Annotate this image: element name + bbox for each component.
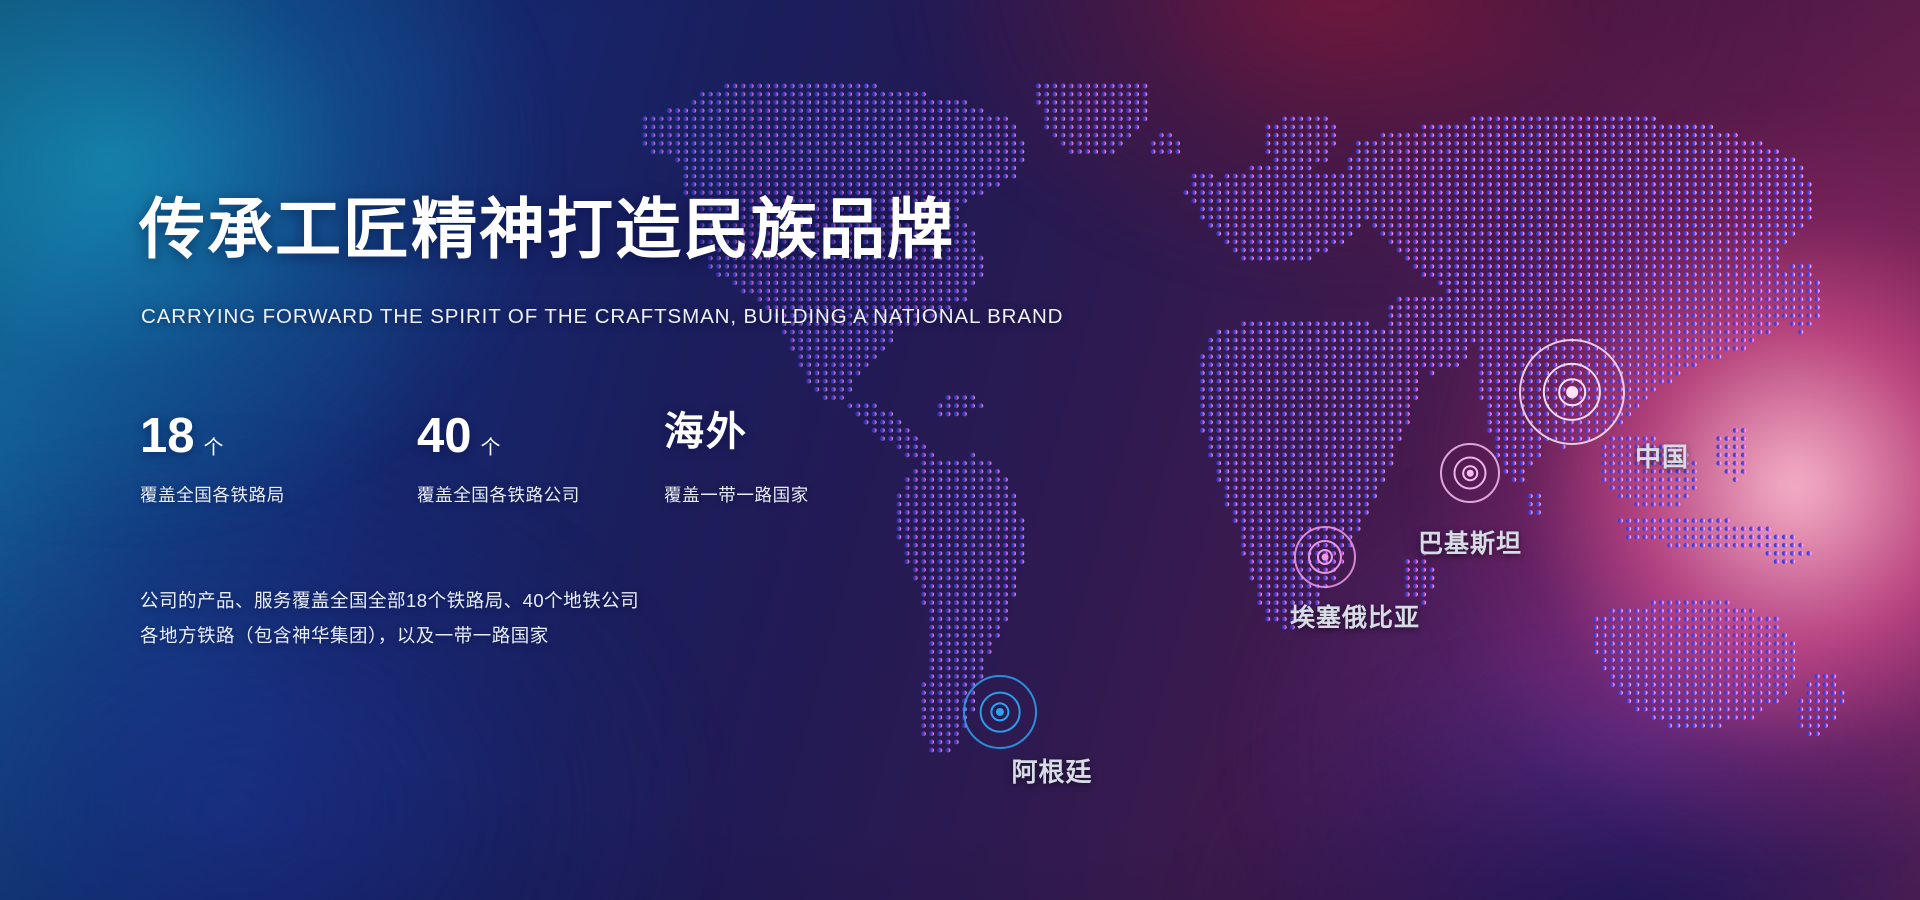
content-block: 传承工匠精神打造民族品牌 CARRYING FORWARD THE SPIRIT… <box>139 0 1039 900</box>
stat-description: 覆盖全国各铁路公司 <box>417 482 664 507</box>
stat-value-group: 海外 <box>664 412 904 468</box>
stat-description: 覆盖全国各铁路局 <box>140 482 417 507</box>
marker-center-dot <box>1467 470 1474 477</box>
stat-number: 40 <box>417 412 472 461</box>
map-marker-label-pakistan: 巴基斯坦 <box>1418 524 1522 560</box>
stat-unit: 个 <box>481 431 501 460</box>
stat-number: 18 <box>140 412 195 461</box>
stats-row: 18 个 覆盖全国各铁路局 40 个 覆盖全国各铁路公司 海外 覆盖一带一路国家 <box>140 412 904 507</box>
map-marker-pakistan[interactable] <box>1440 443 1500 503</box>
map-marker-label-ethiopia: 埃塞俄比亚 <box>1290 598 1420 634</box>
stat-description: 覆盖一带一路国家 <box>664 482 904 507</box>
stat-number: 海外 <box>664 412 748 452</box>
map-marker-ethiopia[interactable] <box>1294 526 1356 588</box>
banner-stage: 阿根廷埃塞俄比亚巴基斯坦中国 传承工匠精神打造民族品牌 CARRYING FOR… <box>0 0 1920 900</box>
description-paragraph: 公司的产品、服务覆盖全国全部18个铁路局、40个地铁公司 各地方铁路（包含神华集… <box>140 583 639 653</box>
stat-value-group: 18 个 <box>140 412 417 468</box>
description-line-1: 公司的产品、服务覆盖全国全部18个铁路局、40个地铁公司 <box>140 583 639 618</box>
map-marker-label-china: 中国 <box>1635 437 1689 474</box>
description-line-2: 各地方铁路（包含神华集团），以及一带一路国家 <box>140 618 639 653</box>
map-marker-china[interactable] <box>1519 339 1625 445</box>
page-subtitle: CARRYING FORWARD THE SPIRIT OF THE CRAFT… <box>141 305 1063 329</box>
marker-center-dot <box>1322 554 1329 561</box>
marker-center-dot <box>1566 386 1578 398</box>
stat-item-railway-companies: 40 个 覆盖全国各铁路公司 <box>417 412 664 507</box>
page-title: 传承工匠精神打造民族品牌 <box>139 196 955 262</box>
stat-unit: 个 <box>204 431 224 460</box>
stat-item-railway-bureaus: 18 个 覆盖全国各铁路局 <box>140 412 417 507</box>
stat-item-overseas: 海外 覆盖一带一路国家 <box>664 412 904 507</box>
stat-value-group: 40 个 <box>417 412 664 468</box>
